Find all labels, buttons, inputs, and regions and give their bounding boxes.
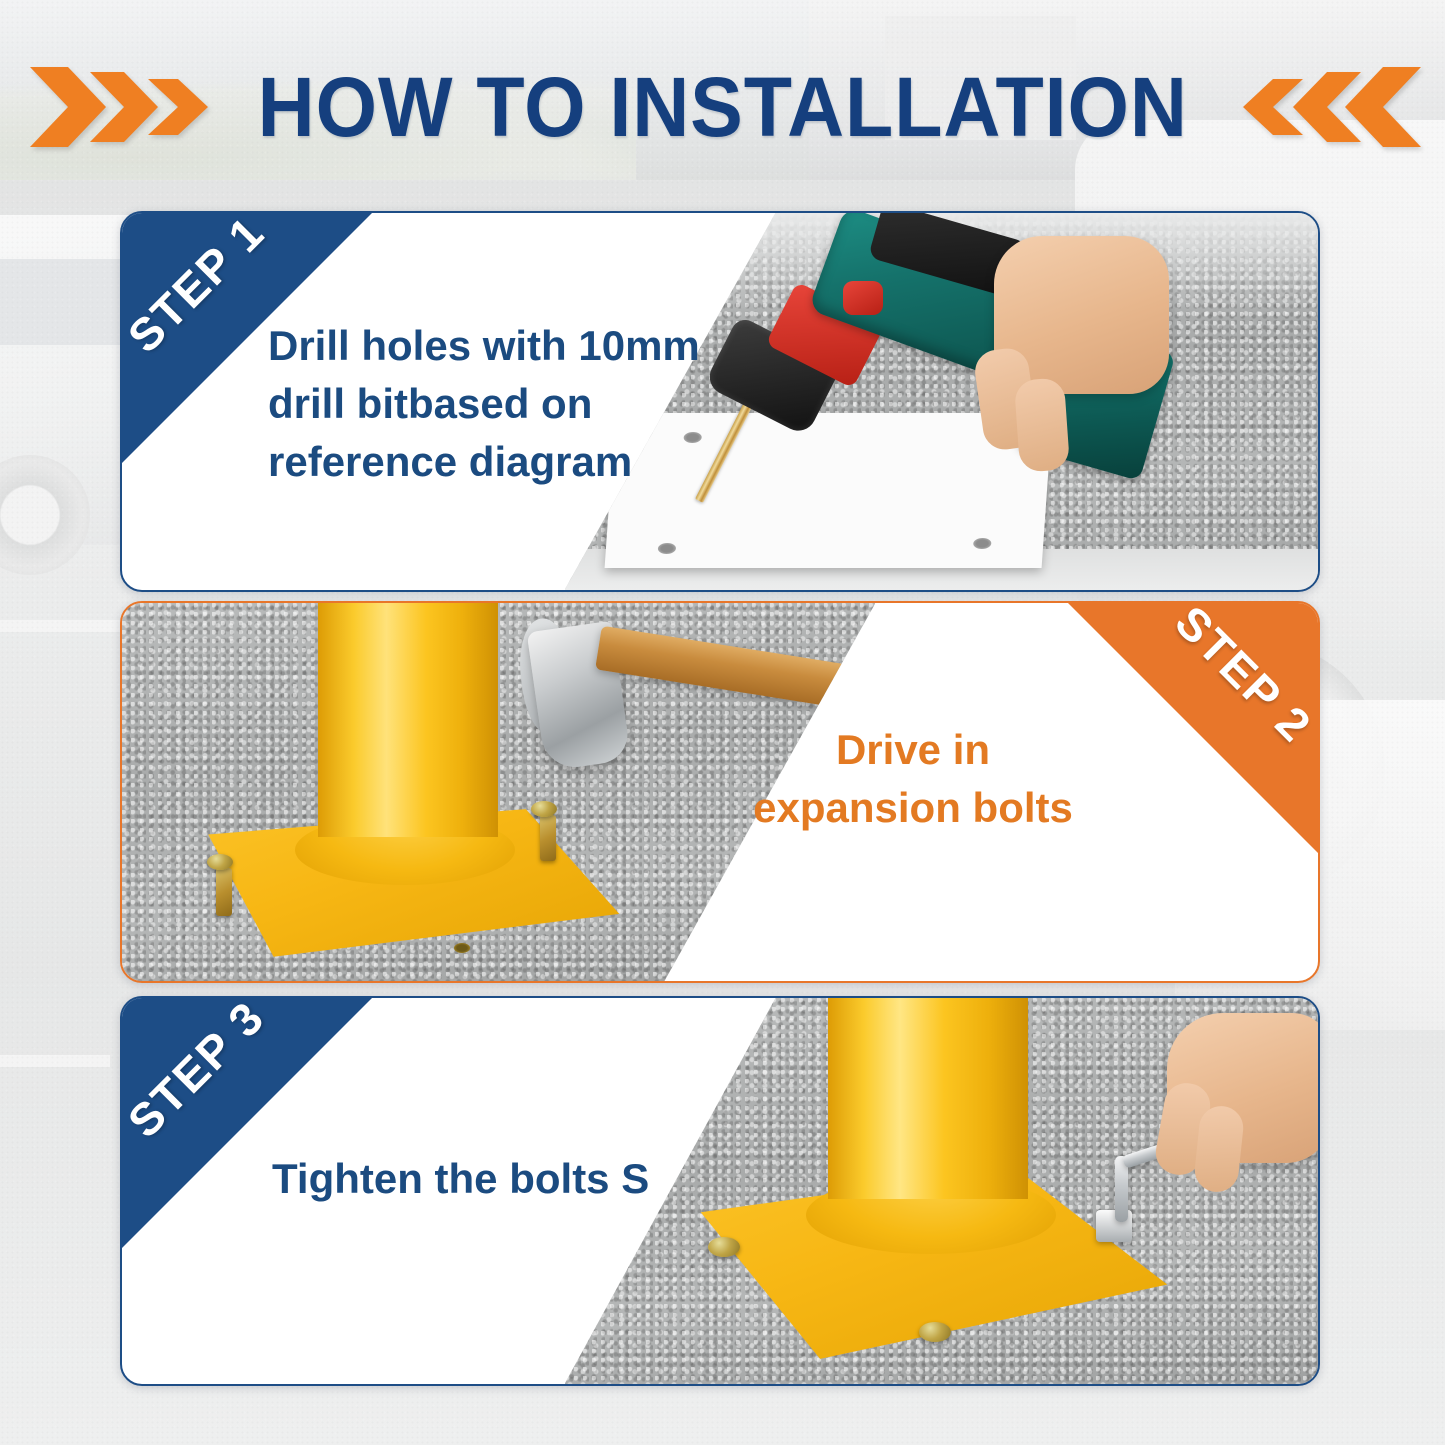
step-1-caption: Drill holes with 10mm drill bitbased on … [268, 317, 728, 491]
bolt-head [919, 1322, 951, 1342]
expansion-bolt [216, 868, 232, 916]
bollard-post [318, 603, 498, 837]
step-3-badge: STEP 3 [122, 998, 372, 1248]
header-banner: HOW TO INSTALLATION [0, 52, 1445, 162]
drill-trigger [843, 281, 883, 315]
drill-hole [454, 943, 470, 953]
step-1-panel: STEP 1 Drill holes with 10mm drill bitba… [120, 211, 1320, 592]
step-3-caption: Tighten the bolts S [272, 1150, 792, 1208]
finger [1013, 377, 1069, 472]
chevron-left-triple-icon [1233, 61, 1423, 153]
step-3-panel: STEP 3 Tighten the bolts S [120, 996, 1320, 1386]
page-title: HOW TO INSTALLATION [252, 59, 1193, 156]
drill-hole [972, 538, 991, 549]
drill-hole [658, 542, 677, 553]
step-2-panel: STEP 2 Drive in expansion bolts [120, 601, 1320, 983]
bolt-head [708, 1237, 740, 1257]
expansion-bolt [540, 815, 556, 861]
chevron-right-triple-icon [28, 61, 218, 153]
bollard-post [828, 998, 1028, 1199]
step-2-caption: Drive in expansion bolts [678, 721, 1148, 837]
